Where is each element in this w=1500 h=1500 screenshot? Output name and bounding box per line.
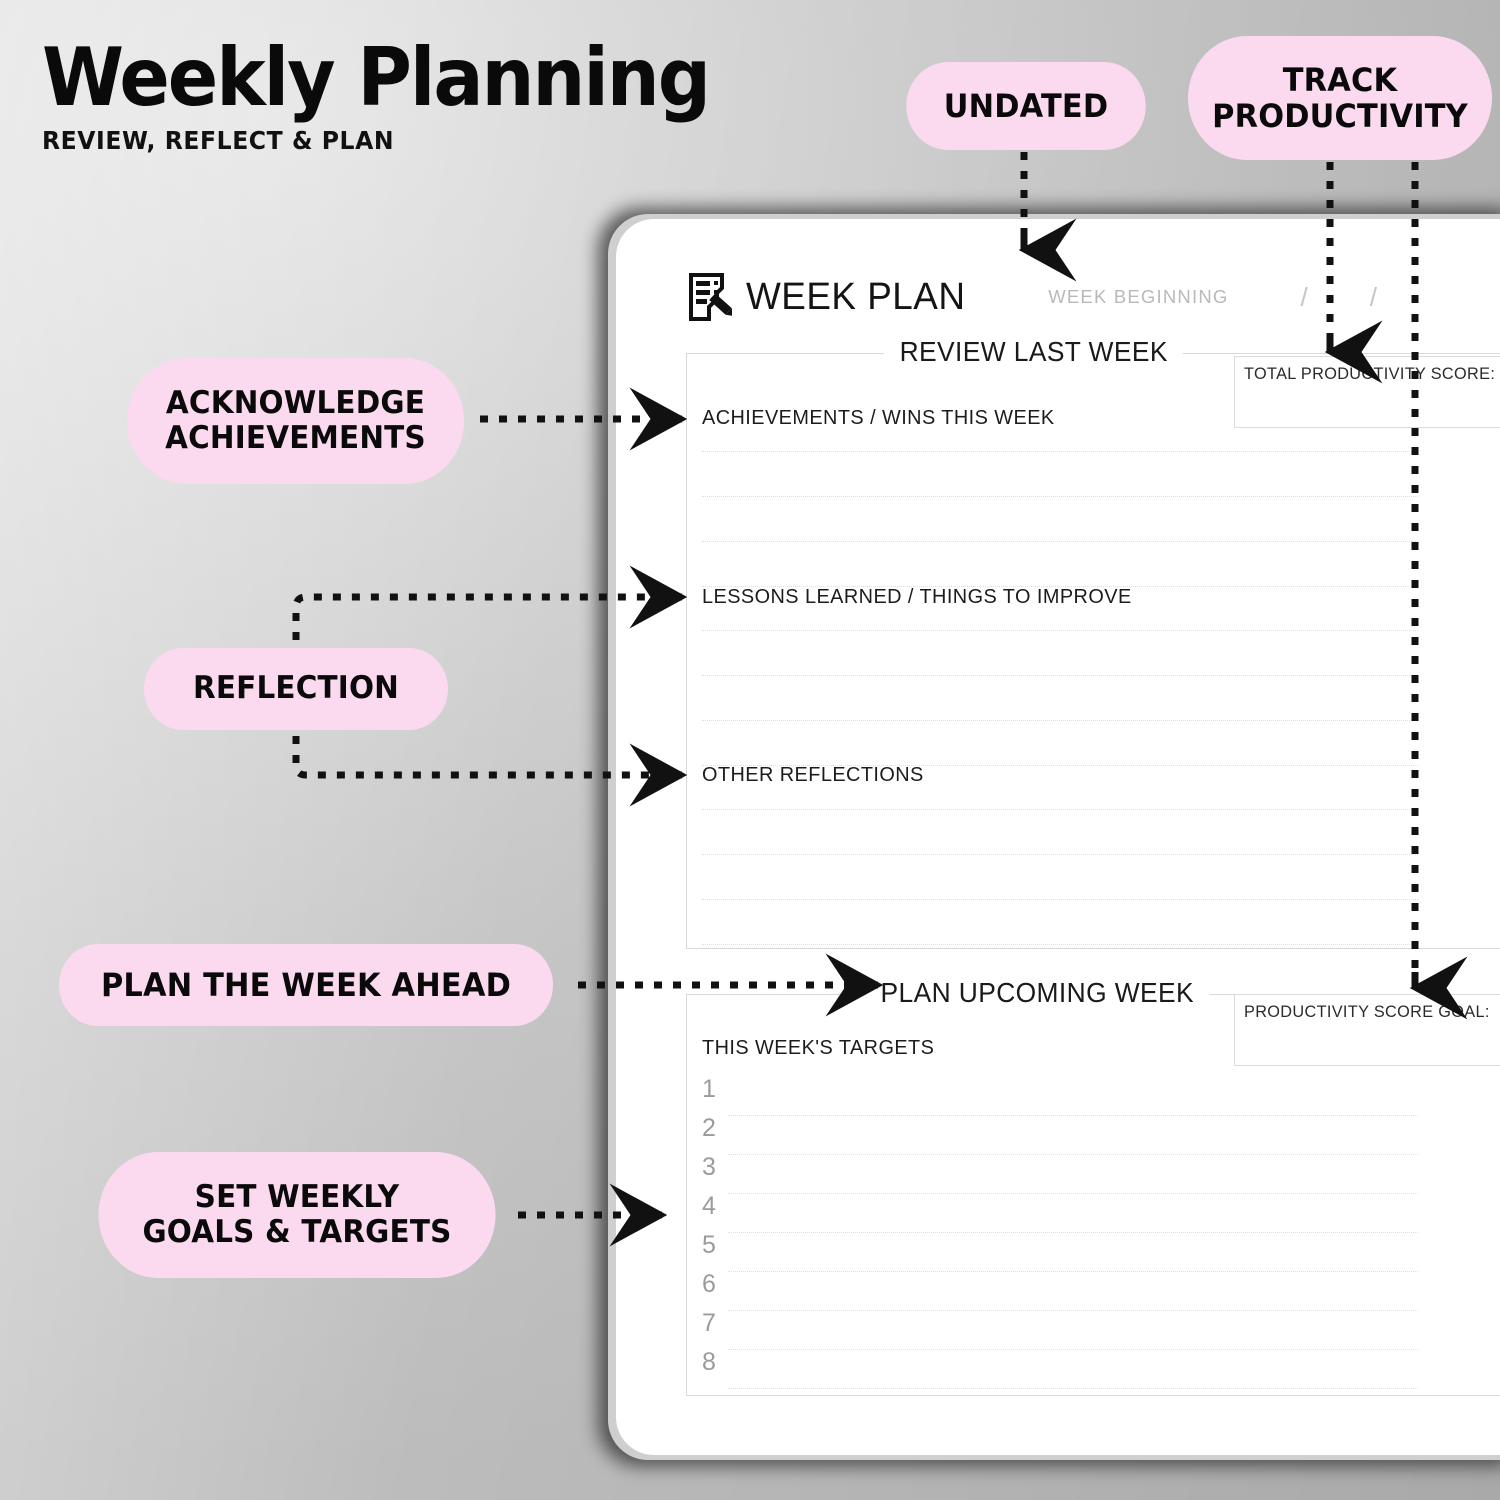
callout-track-productivity-label: TRACK PRODUCTIVITY bbox=[1212, 62, 1468, 135]
reflections-rule-3[interactable] bbox=[702, 899, 1418, 900]
target-rule-3 bbox=[728, 1193, 1418, 1194]
target-number-1: 1 bbox=[702, 1075, 716, 1104]
achievements-rule-1[interactable] bbox=[702, 451, 1418, 452]
achievements-rule-2[interactable] bbox=[702, 496, 1418, 497]
target-row-1[interactable]: 1 bbox=[702, 1079, 1418, 1116]
callout-acknowledge-line1: ACKNOWLEDGE bbox=[166, 385, 425, 421]
callout-acknowledge-line2: ACHIEVEMENTS bbox=[165, 420, 426, 456]
achievements-field-label: ACHIEVEMENTS / WINS THIS WEEK bbox=[702, 406, 1055, 430]
callout-undated-label: UNDATED bbox=[944, 88, 1109, 124]
callout-plan-week-ahead-label: PLAN THE WEEK AHEAD bbox=[101, 967, 511, 1003]
review-last-week-heading: REVIEW LAST WEEK bbox=[884, 336, 1183, 368]
total-productivity-score-box[interactable]: TOTAL PRODUCTIVITY SCORE: bbox=[1234, 356, 1500, 428]
lessons-learned-field-label: LESSONS LEARNED / THINGS TO IMPROVE bbox=[702, 585, 1132, 609]
target-row-8[interactable]: 8 bbox=[702, 1352, 1418, 1389]
target-number-7: 7 bbox=[702, 1309, 716, 1338]
target-row-2[interactable]: 2 bbox=[702, 1118, 1418, 1155]
productivity-score-goal-box[interactable]: PRODUCTIVITY SCORE GOAL: bbox=[1234, 994, 1500, 1066]
lessons-rule-2[interactable] bbox=[702, 675, 1418, 676]
callout-set-goals-line2: GOALS & TARGETS bbox=[142, 1214, 451, 1250]
reflections-rule-4[interactable] bbox=[702, 944, 1418, 945]
week-plan-heading: WEEK PLAN bbox=[746, 276, 965, 319]
notebook-planner-page: WEEK PLAN WEEK BEGINNING / / REVIEW LAST… bbox=[616, 219, 1500, 1455]
clipboard-pencil-icon bbox=[688, 273, 732, 321]
achievements-rule-3[interactable] bbox=[702, 541, 1418, 542]
reflections-rule-2[interactable] bbox=[702, 854, 1418, 855]
callout-acknowledge-label: ACKNOWLEDGE ACHIEVEMENTS bbox=[165, 386, 426, 457]
planner-header: WEEK PLAN WEEK BEGINNING / / bbox=[688, 265, 1500, 329]
this-weeks-targets-label: THIS WEEK'S TARGETS bbox=[702, 1036, 934, 1060]
target-row-3[interactable]: 3 bbox=[702, 1157, 1418, 1194]
date-slash-1: / bbox=[1300, 282, 1307, 313]
review-last-week-frame bbox=[686, 353, 1500, 949]
callout-track-line1: TRACK bbox=[1283, 61, 1397, 99]
productivity-score-goal-label: PRODUCTIVITY SCORE GOAL: bbox=[1244, 1002, 1490, 1022]
callout-track-line2: PRODUCTIVITY bbox=[1212, 97, 1468, 135]
target-row-6[interactable]: 6 bbox=[702, 1274, 1418, 1311]
callout-reflection[interactable]: REFLECTION bbox=[144, 648, 448, 730]
date-slash-2: / bbox=[1370, 282, 1377, 313]
target-number-2: 2 bbox=[702, 1114, 716, 1143]
callout-undated[interactable]: UNDATED bbox=[906, 62, 1145, 150]
target-rule-5 bbox=[728, 1271, 1418, 1272]
target-number-6: 6 bbox=[702, 1270, 716, 1299]
target-rule-8 bbox=[728, 1388, 1418, 1389]
week-beginning-label: WEEK BEGINNING bbox=[1048, 286, 1228, 308]
page-subtitle: REVIEW, REFLECT & PLAN bbox=[42, 126, 716, 155]
target-number-5: 5 bbox=[702, 1231, 716, 1260]
week-beginning-group: WEEK BEGINNING / / bbox=[1048, 282, 1377, 313]
target-rule-4 bbox=[728, 1232, 1418, 1233]
callout-set-weekly-goals[interactable]: SET WEEKLY GOALS & TARGETS bbox=[98, 1152, 495, 1278]
lessons-rule-3[interactable] bbox=[702, 720, 1418, 721]
target-rule-7 bbox=[728, 1349, 1418, 1350]
callout-track-productivity[interactable]: TRACK PRODUCTIVITY bbox=[1188, 36, 1492, 160]
target-row-7[interactable]: 7 bbox=[702, 1313, 1418, 1350]
title-block: Weekly Planning REVIEW, REFLECT & PLAN bbox=[42, 40, 759, 155]
target-row-4[interactable]: 4 bbox=[702, 1196, 1418, 1233]
callout-set-goals-label: SET WEEKLY GOALS & TARGETS bbox=[142, 1180, 451, 1251]
lessons-rule-1[interactable] bbox=[702, 630, 1418, 631]
reflections-rule-1[interactable] bbox=[702, 809, 1418, 810]
target-number-8: 8 bbox=[702, 1348, 716, 1377]
target-rule-1 bbox=[728, 1115, 1418, 1116]
target-rule-6 bbox=[728, 1310, 1418, 1311]
callout-set-goals-line1: SET WEEKLY bbox=[195, 1179, 400, 1215]
target-number-4: 4 bbox=[702, 1192, 716, 1221]
callout-acknowledge-achievements[interactable]: ACKNOWLEDGE ACHIEVEMENTS bbox=[127, 358, 464, 484]
target-rule-2 bbox=[728, 1154, 1418, 1155]
plan-upcoming-week-heading: PLAN UPCOMING WEEK bbox=[865, 977, 1209, 1009]
total-productivity-score-label: TOTAL PRODUCTIVITY SCORE: bbox=[1244, 364, 1495, 384]
target-number-3: 3 bbox=[702, 1153, 716, 1182]
target-row-5[interactable]: 5 bbox=[702, 1235, 1418, 1272]
page-title: Weekly Planning bbox=[42, 40, 709, 117]
other-reflections-field-label: OTHER REFLECTIONS bbox=[702, 763, 924, 787]
callout-plan-week-ahead[interactable]: PLAN THE WEEK AHEAD bbox=[59, 944, 553, 1026]
planner-page-content: WEEK PLAN WEEK BEGINNING / / REVIEW LAST… bbox=[616, 219, 1500, 1455]
callout-reflection-label: REFLECTION bbox=[193, 671, 399, 706]
